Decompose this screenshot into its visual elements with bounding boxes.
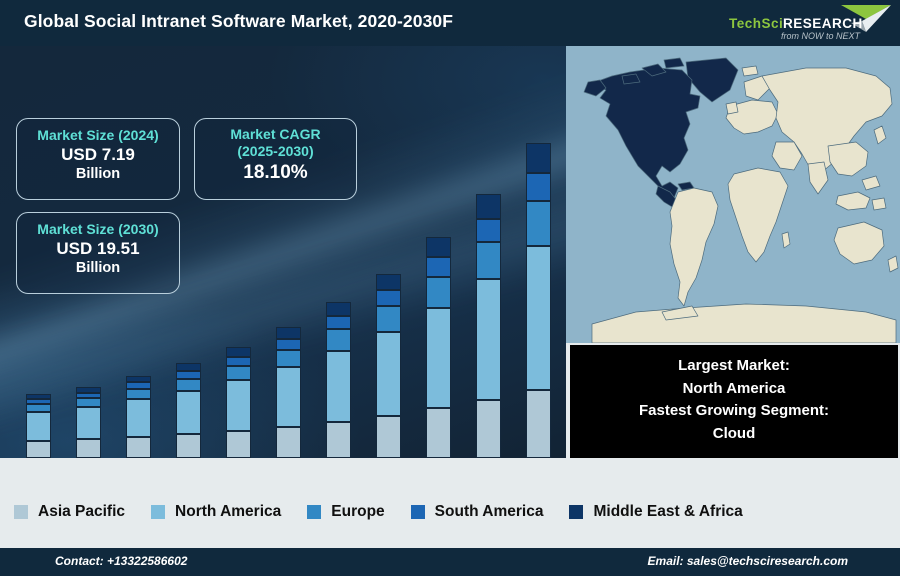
- fastest-segment-label: Fastest Growing Segment:: [570, 400, 898, 423]
- bar-segment-middle-east-africa: [226, 347, 251, 356]
- bar-segment-asia-pacific: [126, 437, 151, 458]
- footer-bar: Contact: +13322586602 Email: sales@techs…: [0, 548, 900, 576]
- bar-segment-south-america: [226, 357, 251, 366]
- bar-2020: [26, 46, 51, 458]
- bar-segment-asia-pacific: [526, 390, 551, 458]
- bar-segment-south-america: [276, 339, 301, 350]
- bar-segment-north-america: [126, 399, 151, 436]
- bar-2026F: [326, 46, 351, 458]
- largest-market-label: Largest Market:: [570, 355, 898, 378]
- bar-segment-europe: [276, 350, 301, 368]
- bar-2025E: [276, 46, 301, 458]
- bar-segment-middle-east-africa: [126, 376, 151, 383]
- bar-segment-middle-east-africa: [276, 327, 301, 338]
- chart-legend: Asia PacificNorth AmericaEuropeSouth Ame…: [0, 483, 900, 540]
- largest-market-value: North America: [570, 378, 898, 401]
- legend-label: Middle East & Africa: [593, 503, 742, 521]
- bar-segment-north-america: [176, 391, 201, 434]
- legend-label: Asia Pacific: [38, 503, 125, 521]
- svg-text:TechSci: TechSci: [729, 16, 783, 31]
- bar-2029F: [476, 46, 501, 458]
- bar-segment-middle-east-africa: [476, 194, 501, 218]
- legend-label: North America: [175, 503, 281, 521]
- bar-segment-asia-pacific: [276, 427, 301, 458]
- world-map-icon: [566, 46, 900, 343]
- bar-segment-middle-east-africa: [376, 274, 401, 291]
- bar-segment-south-america: [176, 371, 201, 379]
- legend-swatch-icon: [569, 505, 583, 519]
- legend-item-asia-pacific[interactable]: Asia Pacific: [14, 503, 151, 521]
- bar-segment-europe: [226, 366, 251, 381]
- fastest-segment-value: Cloud: [570, 423, 898, 446]
- bar-2022: [126, 46, 151, 458]
- logo-icon: TechSci RESEARCH from NOW to NEXT: [723, 2, 895, 44]
- bar-segment-middle-east-africa: [326, 302, 351, 316]
- bar-segment-europe: [526, 201, 551, 247]
- legend-item-middle-east-africa[interactable]: Middle East & Africa: [569, 503, 768, 521]
- bar-2030F: [526, 46, 551, 458]
- bar-segment-asia-pacific: [476, 400, 501, 458]
- legend-swatch-icon: [14, 505, 28, 519]
- bar-segment-europe: [476, 242, 501, 280]
- bar-segment-asia-pacific: [326, 422, 351, 458]
- bar-segment-north-america: [376, 332, 401, 416]
- bar-segment-europe: [376, 306, 401, 332]
- bar-segment-europe: [76, 398, 101, 407]
- legend-label: South America: [435, 503, 544, 521]
- bar-segment-north-america: [226, 380, 251, 430]
- legend-label: Europe: [331, 503, 384, 521]
- largest-market-info-box: Largest Market: North America Fastest Gr…: [570, 345, 898, 458]
- footer-email: Email: sales@techsciresearch.com: [648, 554, 848, 568]
- bar-segment-asia-pacific: [26, 441, 51, 458]
- bar-segment-asia-pacific: [176, 434, 201, 458]
- bar-segment-asia-pacific: [226, 431, 251, 458]
- bar-segment-north-america: [476, 279, 501, 400]
- bar-segment-europe: [176, 379, 201, 391]
- bar-segment-asia-pacific: [76, 439, 101, 458]
- header-bar: Global Social Intranet Software Market, …: [0, 0, 900, 46]
- bar-segment-europe: [26, 404, 51, 411]
- legend-item-south-america[interactable]: South America: [411, 503, 570, 521]
- stacked-bar-series: [0, 46, 566, 458]
- legend-item-europe[interactable]: Europe: [307, 503, 410, 521]
- bar-segment-north-america: [276, 367, 301, 427]
- infographic-root: Global Social Intranet Software Market, …: [0, 0, 900, 576]
- bar-segment-europe: [326, 329, 351, 350]
- bar-segment-south-america: [526, 173, 551, 201]
- bar-2023: [176, 46, 201, 458]
- legend-swatch-icon: [307, 505, 321, 519]
- bar-2021: [76, 46, 101, 458]
- legend-swatch-icon: [411, 505, 425, 519]
- world-map-panel: [566, 46, 900, 343]
- bar-2024: [226, 46, 251, 458]
- bar-segment-north-america: [76, 407, 101, 439]
- bar-segment-asia-pacific: [426, 408, 451, 458]
- footer-contact: Contact: +13322586602: [55, 554, 187, 568]
- bar-segment-south-america: [476, 219, 501, 242]
- bar-segment-middle-east-africa: [176, 363, 201, 371]
- svg-text:from NOW to NEXT: from NOW to NEXT: [781, 31, 862, 41]
- bar-segment-north-america: [426, 308, 451, 409]
- svg-text:RESEARCH: RESEARCH: [783, 16, 863, 31]
- bar-segment-europe: [426, 277, 451, 308]
- bar-segment-middle-east-africa: [426, 237, 451, 257]
- bar-segment-south-america: [126, 382, 151, 389]
- techsci-research-logo: TechSci RESEARCH from NOW to NEXT: [723, 2, 895, 44]
- legend-item-north-america[interactable]: North America: [151, 503, 307, 521]
- bar-segment-europe: [126, 389, 151, 399]
- bar-segment-north-america: [326, 351, 351, 422]
- page-title: Global Social Intranet Software Market, …: [24, 11, 453, 32]
- chart-panel: Market Size (2024) USD 7.19 Billion Mark…: [0, 46, 566, 458]
- bar-2028F: [426, 46, 451, 458]
- bar-segment-south-america: [426, 257, 451, 276]
- bar-segment-south-america: [376, 290, 401, 306]
- bar-segment-north-america: [26, 412, 51, 441]
- bar-segment-south-america: [326, 316, 351, 329]
- legend-swatch-icon: [151, 505, 165, 519]
- bar-segment-middle-east-africa: [526, 143, 551, 172]
- bar-segment-north-america: [526, 246, 551, 390]
- bar-2027F: [376, 46, 401, 458]
- bar-segment-asia-pacific: [376, 416, 401, 458]
